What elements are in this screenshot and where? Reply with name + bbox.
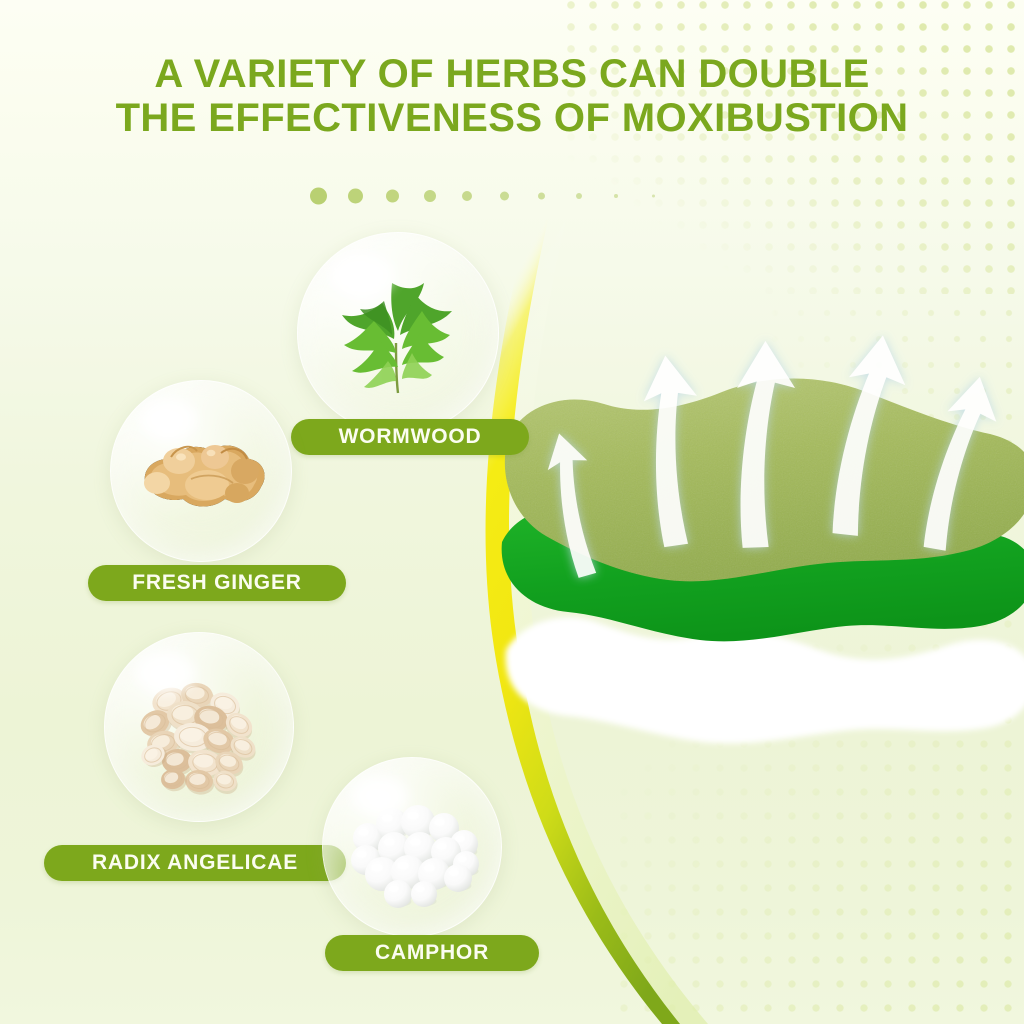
camphor-balls-icon bbox=[323, 758, 501, 936]
ingredient-bubble-camphor[interactable] bbox=[322, 757, 502, 937]
infographic-canvas: A VARIETY OF HERBS CAN DOUBLE THE EFFECT… bbox=[0, 0, 1024, 1024]
ingredient-bubble-wormwood[interactable] bbox=[297, 232, 499, 434]
ingredient-bubble-radix-angelicae[interactable] bbox=[104, 632, 294, 822]
background-dot-pattern-top-right bbox=[560, 0, 1024, 294]
ingredient-label-camphor: CAMPHOR bbox=[325, 935, 539, 971]
page-title: A VARIETY OF HERBS CAN DOUBLE THE EFFECT… bbox=[0, 52, 1024, 140]
angelica-root-slices-icon bbox=[105, 633, 293, 821]
title-line-1: A VARIETY OF HERBS CAN DOUBLE bbox=[154, 52, 869, 96]
ingredient-bubble-fresh-ginger[interactable] bbox=[110, 380, 292, 562]
wormwood-leaves-icon bbox=[298, 233, 498, 433]
ingredient-label-radix-angelicae: RADIX ANGELICAE bbox=[44, 845, 346, 881]
ginger-root-icon bbox=[111, 381, 291, 561]
title-line-2: THE EFFECTIVENESS OF MOXIBUSTION bbox=[0, 96, 1024, 140]
decorative-dot-row bbox=[310, 186, 690, 206]
ingredient-label-fresh-ginger: FRESH GINGER bbox=[88, 565, 346, 601]
ingredient-label-wormwood: WORMWOOD bbox=[291, 419, 529, 455]
moxibustion-patch-cutaway bbox=[500, 330, 1024, 800]
